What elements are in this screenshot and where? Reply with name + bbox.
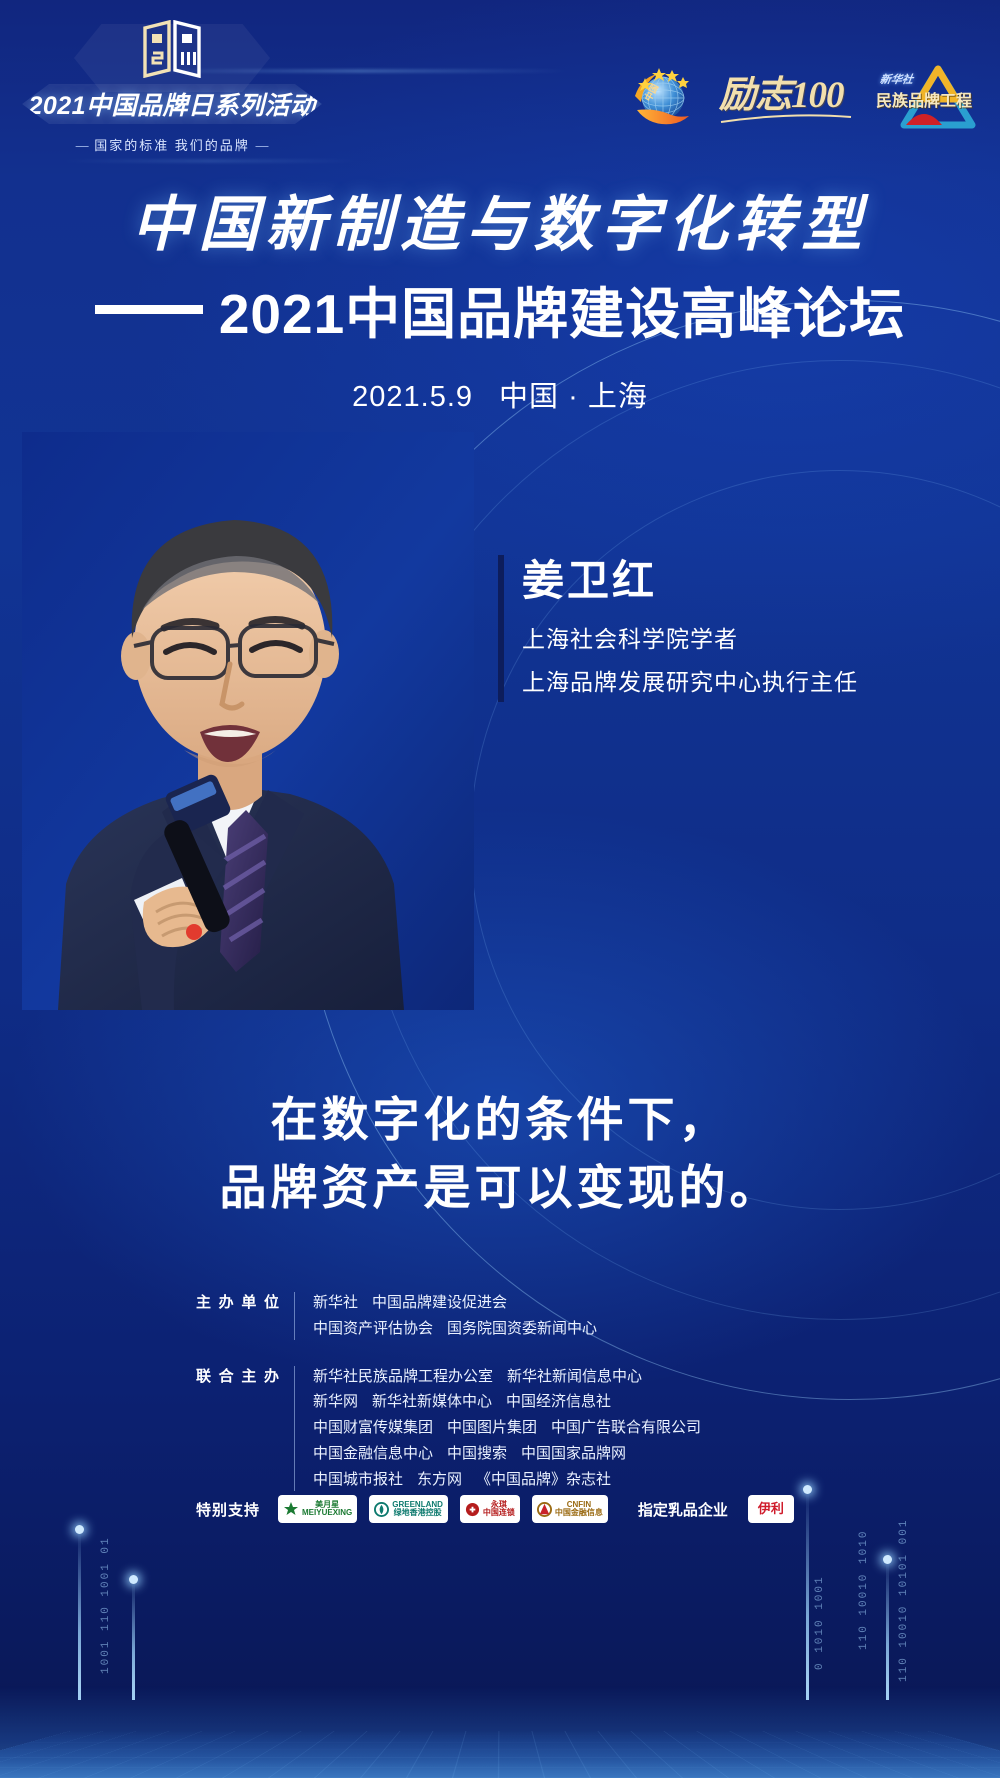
light-pillar — [806, 1490, 809, 1700]
credit-item: 中国资产评估协会 — [313, 1320, 433, 1337]
credit-item: 《中国品牌》杂志社 — [476, 1471, 611, 1488]
poster-canvas: 2021中国品牌日系列活动 — 国家的标准 我们的品牌 — — [0, 0, 1000, 1778]
credit-item: 新华社新闻信息中心 — [507, 1368, 642, 1385]
credit-group-organizers: 主办单位 新华社中国品牌建设促进会 中国资产评估协会国务院国资委新闻中心 — [196, 1290, 836, 1342]
badge-subtitle: — 国家的标准 我们的品牌 — — [22, 135, 322, 154]
credit-item: 中国广告联合有限公司 — [551, 1419, 701, 1436]
cnfin-logo-text: CNFIN 中国金融信息 — [555, 1501, 603, 1518]
credit-line: 新华社民族品牌工程办公室新华社新闻信息中心 — [313, 1364, 836, 1390]
light-pillar — [886, 1560, 889, 1700]
main-title-block: 中国新制造与数字化转型 2021中国品牌建设高峰论坛 2021.5.9中国 · … — [0, 176, 1000, 415]
ethnic-brand-project-label: 民族品牌工程 — [876, 87, 972, 111]
lizhi-100-text: 励志100 — [719, 70, 854, 122]
credit-divider — [294, 1366, 295, 1491]
greenland-logo-text: GREENLAND 绿地香港控股 — [392, 1501, 443, 1518]
greenland-logo: GREENLAND 绿地香港控股 — [369, 1495, 448, 1523]
light-pillar-cap — [75, 1525, 84, 1534]
perspective-grid-floor — [0, 1731, 1000, 1778]
title-subtitle: 2021中国品牌建设高峰论坛 — [219, 269, 905, 349]
title-subtitle-row: 2021中国品牌建设高峰论坛 — [0, 269, 1000, 349]
yili-logo-text: 伊利 — [758, 1502, 784, 1516]
credit-item: 中国经济信息社 — [506, 1393, 611, 1410]
badge-sub-dash-right: — — [255, 138, 268, 153]
xinhua-ethnic-brand-project-logo: 新华社 民族品牌工程 — [876, 63, 978, 135]
event-location: 中国 · 上海 — [499, 381, 648, 413]
speaker-title-line-2: 上海品牌发展研究中心执行主任 — [522, 662, 858, 702]
speaker-name: 姜卫红 — [522, 557, 858, 605]
binary-text: 110 10010 1010 — [858, 1530, 870, 1650]
quote-block: 在数字化的条件下， 品牌资产是可以变现的。 — [0, 1086, 1000, 1222]
credit-label-organizers: 主办单位 — [196, 1290, 280, 1342]
yongqi-logo-text: 永琪 中国连锁 — [483, 1501, 515, 1518]
light-pillar — [132, 1580, 135, 1700]
book-emblem-icon — [141, 20, 203, 78]
dairy-sponsor-label: 指定乳品企业 — [638, 1499, 728, 1520]
credit-line: 中国金融信息中心中国搜索中国国家品牌网 — [313, 1441, 836, 1467]
cnfin-logo: CNFIN 中国金融信息 — [532, 1495, 608, 1523]
binary-text: 110 10010 10101 001 — [898, 1519, 910, 1682]
yongqi-logo: 永琪 中国连锁 — [460, 1495, 520, 1523]
credit-item: 中国品牌建设促进会 — [372, 1294, 507, 1311]
sponsor-strip: 特别支持 美月星 MEIYUEXING GREENLAND 绿地香港控股 永琪 … — [196, 1495, 794, 1523]
title-calligraphy: 中国新制造与数字化转型 — [0, 176, 1000, 263]
credit-item: 中国金融信息中心 — [313, 1445, 433, 1462]
credit-line: 中国资产评估协会国务院国资委新闻中心 — [313, 1316, 836, 1342]
yili-logo: 伊利 — [748, 1495, 794, 1523]
credit-item: 新华社新媒体中心 — [372, 1393, 492, 1410]
badge-sub-text: 国家的标准 我们的品牌 — [94, 138, 250, 153]
credit-item: 中国财富传媒集团 — [313, 1419, 433, 1436]
title-dash-icon — [95, 305, 203, 314]
light-pillar-cap — [129, 1575, 138, 1584]
credit-group-co-organizers: 联合主办 新华社民族品牌工程办公室新华社新闻信息中心 新华网新华社新媒体中心中国… — [196, 1364, 836, 1493]
badge-title-bar: 2021中国品牌日系列活动 — [22, 84, 322, 124]
light-pillar — [78, 1530, 81, 1700]
sponsor-label: 特别支持 — [196, 1499, 260, 1520]
china-brand-globe-logo: 中国 — [623, 62, 697, 136]
quote-line-2: 品牌资产是可以变现的。 — [0, 1154, 1000, 1222]
meiyuexing-logo-text: 美月星 MEIYUEXING — [302, 1501, 352, 1518]
credit-divider — [294, 1292, 295, 1340]
meiyuexing-logo: 美月星 MEIYUEXING — [278, 1495, 357, 1523]
speaker-accent-bar — [498, 555, 504, 702]
event-date: 2021.5.9 — [352, 381, 473, 413]
binary-text: 1001 110 1001 01 — [100, 1536, 112, 1674]
credit-item: 中国搜索 — [447, 1445, 507, 1462]
event-badge: 2021中国品牌日系列活动 — 国家的标准 我们的品牌 — — [22, 18, 322, 163]
credit-line: 中国城市报社东方网《中国品牌》杂志社 — [313, 1467, 836, 1493]
speaker-title-line-1: 上海社会科学院学者 — [522, 619, 858, 659]
credit-item: 新华社 — [313, 1294, 358, 1311]
badge-sub-dash-left: — — [76, 138, 89, 153]
floor-glow — [0, 1686, 1000, 1778]
lizhi-100-logo: 励志100 — [719, 70, 854, 128]
light-pillar-cap — [883, 1555, 892, 1564]
quote-line-1: 在数字化的条件下， — [0, 1086, 1000, 1154]
top-logo-row: 中国 励志100 新华社 民族品牌工程 — [623, 62, 978, 136]
speaker-info: 姜卫红 上海社会科学院学者 上海品牌发展研究中心执行主任 — [498, 555, 978, 702]
credit-item: 中国城市报社 — [313, 1471, 403, 1488]
credit-item: 中国国家品牌网 — [521, 1445, 626, 1462]
credit-line: 新华网新华社新媒体中心中国经济信息社 — [313, 1389, 836, 1415]
credit-item: 中国图片集团 — [447, 1419, 537, 1436]
credit-label-co-organizers: 联合主办 — [196, 1364, 280, 1493]
title-date-line: 2021.5.9中国 · 上海 — [0, 373, 1000, 415]
xinhua-label: 新华社 — [879, 71, 914, 87]
credits-block: 主办单位 新华社中国品牌建设促进会 中国资产评估协会国务院国资委新闻中心 联合主… — [196, 1290, 836, 1509]
credit-item: 新华网 — [313, 1393, 358, 1410]
badge-title-text: 2021中国品牌日系列活动 — [28, 86, 315, 122]
credit-item: 国务院国资委新闻中心 — [447, 1320, 597, 1337]
speaker-portrait — [22, 432, 474, 1010]
credit-item: 东方网 — [417, 1471, 462, 1488]
binary-text: 0 1010 1001 — [814, 1575, 826, 1670]
credit-line: 中国财富传媒集团中国图片集团中国广告联合有限公司 — [313, 1415, 836, 1441]
credit-line: 新华社中国品牌建设促进会 — [313, 1290, 836, 1316]
credit-item: 新华社民族品牌工程办公室 — [313, 1368, 493, 1385]
